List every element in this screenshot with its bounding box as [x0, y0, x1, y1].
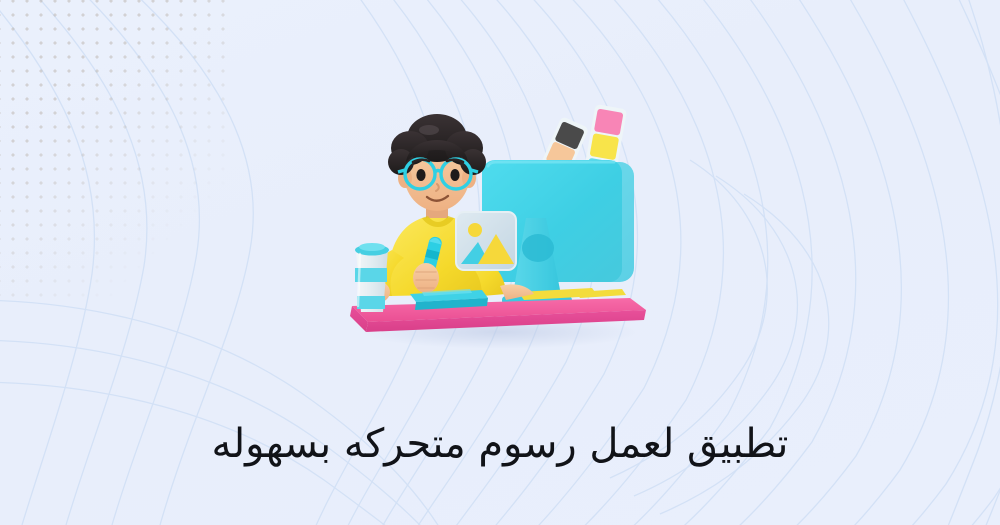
cup-lid-top [359, 243, 385, 251]
designer-scene-svg [330, 100, 670, 350]
coffee-cup [355, 243, 389, 312]
hair-highlight [419, 125, 439, 135]
image-card [456, 212, 516, 270]
page-title: تطبيق لعمل رسوم متحركه بسهوله [0, 419, 1000, 469]
cup-band-lower [357, 296, 385, 309]
character-eye-left [416, 169, 425, 181]
swatch-pink-light [594, 109, 624, 136]
promo-banner: تطبيق لعمل رسوم متحركه بسهوله [0, 0, 1000, 525]
hero-illustration [330, 100, 670, 350]
swatch-yellow-light [590, 133, 620, 160]
dot-grid-pattern [0, 0, 235, 300]
character-eye-right [450, 169, 459, 181]
monitor-stand-hole [522, 234, 554, 262]
image-card-sun [468, 223, 482, 237]
